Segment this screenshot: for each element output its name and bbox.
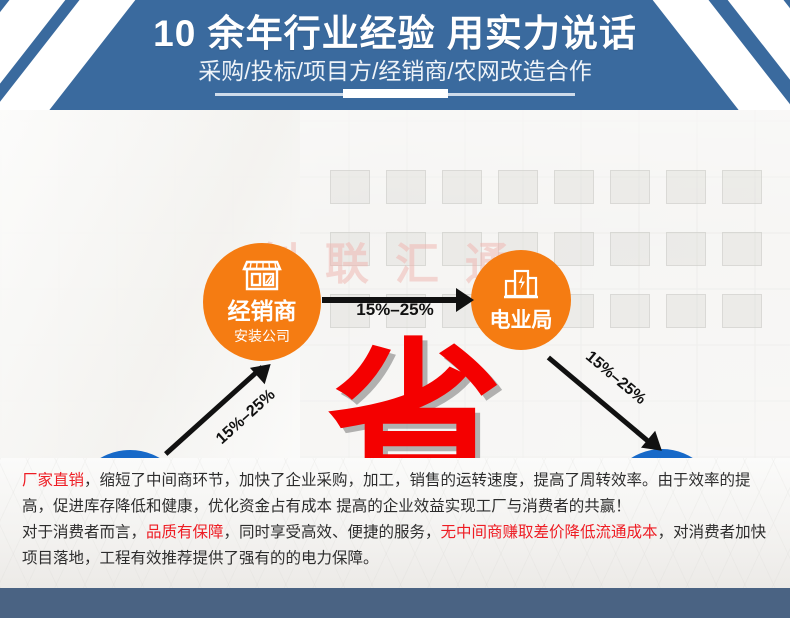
paragraph-two-lead: 对于消费者而言， [22,524,146,541]
description-section: 厂家直销，缩短了中间商环节，加快了企业采购，加工，销售的运转速度，提高了周转效率… [0,458,790,588]
paragraph-one-text: ，缩短了中间商环节，加快了企业采购，加工，销售的运转速度，提高了周转效率。由于效… [22,472,751,515]
promo-banner-page: 10 余年行业经验 用实力说话 采购/投标/项目方/经销商/农网改造合作 创联汇… [0,0,790,618]
node-dealer-label: 经销商 [228,299,297,323]
header-banner: 10 余年行业经验 用实力说话 采购/投标/项目方/经销商/农网改造合作 [0,0,790,110]
big-save-character: 省 [315,338,515,458]
background-window [610,232,650,266]
background-window [666,232,706,266]
background-window [386,170,426,204]
background-window [722,232,762,266]
background-window [610,294,650,328]
node-dealer-sublabel: 安装公司 [234,326,290,346]
paragraph-one: 厂家直销，缩短了中间商环节，加快了企业采购，加工，销售的运转速度，提高了周转效率… [22,468,770,520]
footer-bar [0,588,790,618]
arrow-dealer-to-power-label: 15%–25% [330,300,460,320]
power-plant-icon [501,268,541,307]
header-underline-center [343,89,448,98]
node-dealer[interactable]: 经销商 安装公司 [203,243,321,361]
background-window [722,294,762,328]
paragraph-two-highlight-one: 品质有保障 [146,524,224,541]
flow-diagram: 创联汇通 省 经销商 安装公司 [0,110,790,458]
background-window [666,170,706,204]
node-power-bureau-label: 电业局 [490,310,553,332]
arrow-brand-to-dealer: 15%–25% [154,356,274,458]
paragraph-two-mid: ，同时享受高效、便捷的服务， [224,524,441,541]
paragraph-two: 对于消费者而言，品质有保障，同时享受高效、便捷的服务，无中间商赚取差价降低流通成… [22,520,770,572]
background-window [386,232,426,266]
background-window [554,232,594,266]
background-window [442,170,482,204]
header-subtitle: 采购/投标/项目方/经销商/农网改造合作 [0,58,790,85]
paragraph-two-highlight-two: 无中间商赚取差价降低流通成本 [441,524,658,541]
arrow-power-to-consumer: 15%–25% [536,348,666,458]
background-window [498,170,538,204]
background-window [554,170,594,204]
header-title: 10 余年行业经验 用实力说话 [0,12,790,55]
background-window [666,294,706,328]
background-window [610,170,650,204]
background-window [330,170,370,204]
paragraph-one-highlight: 厂家直销 [22,472,84,489]
background-window [722,170,762,204]
background-window [330,232,370,266]
background-window [442,232,482,266]
shop-icon [239,258,285,297]
node-power-bureau[interactable]: 电业局 [471,250,571,350]
